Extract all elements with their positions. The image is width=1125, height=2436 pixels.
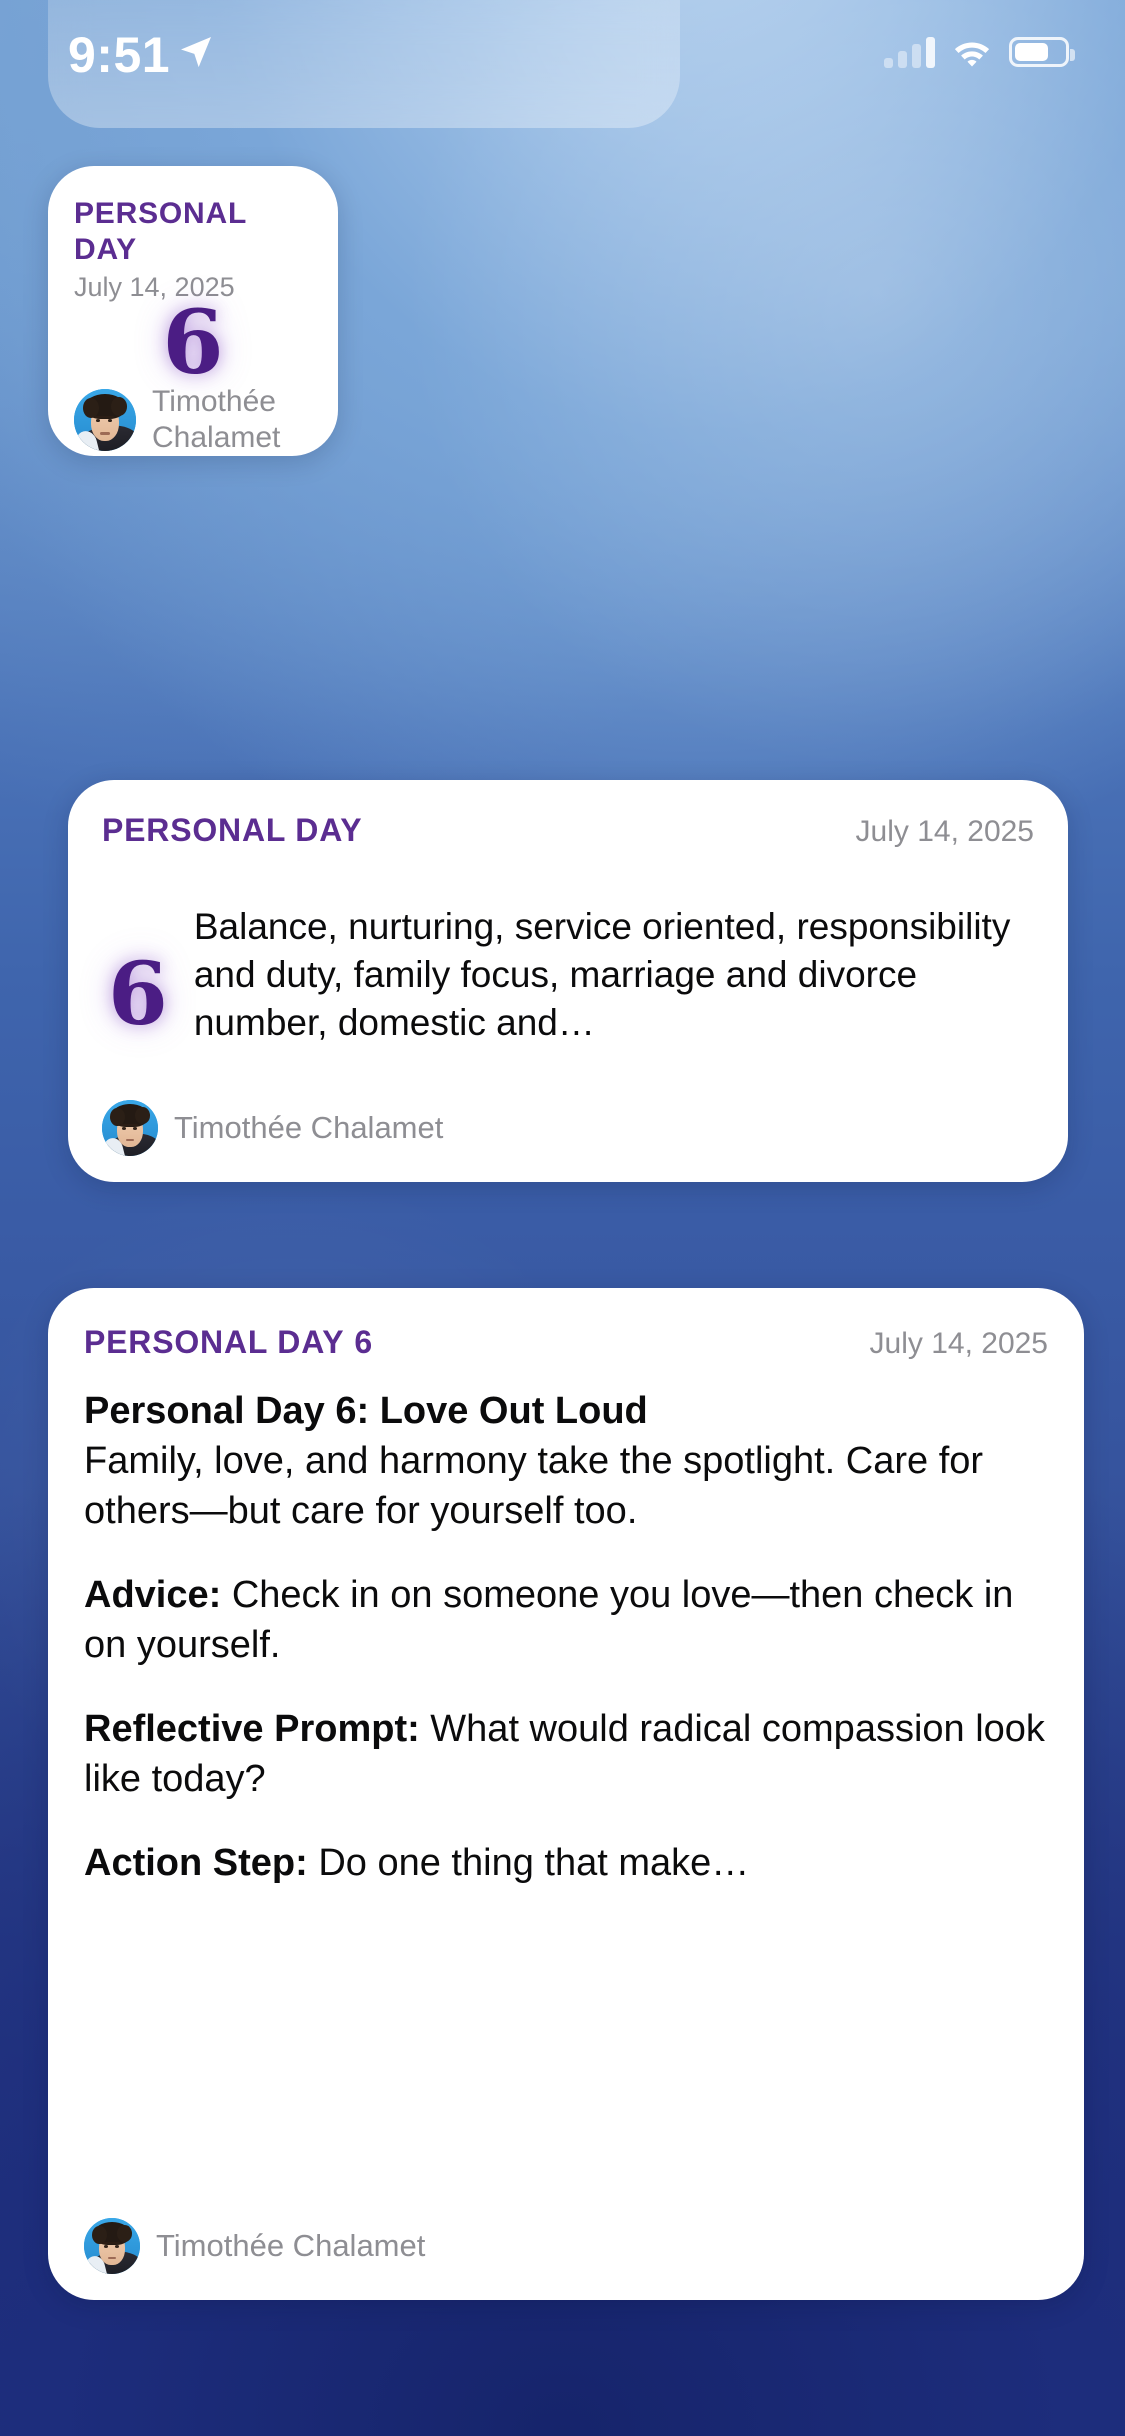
location-arrow-icon [176,32,216,72]
large-widget-kicker-label: PERSONAL DAY [84,1324,344,1360]
large-widget-footer: Timothée Chalamet [84,2218,1048,2274]
large-widget-advice-text: Check in on someone you love—then check … [84,1574,1013,1666]
medium-widget-author: Timothée Chalamet [174,1109,443,1147]
timothee-chalamet-avatar [74,389,136,451]
large-widget-kicker: PERSONAL DAY6 [84,1322,373,1362]
small-widget-footer: Timothée Chalamet [74,384,312,456]
large-widget-reflective: Reflective Prompt: What would radical co… [84,1704,1048,1804]
large-widget-advice-label: Advice: [84,1574,221,1616]
large-widget-action: Action Step: Do one thing that make… [84,1838,1048,1888]
large-widget-title-text: Personal Day 6: Love Out Loud [84,1390,648,1432]
large-widget-author: Timothée Chalamet [156,2227,425,2265]
widget-card-medium[interactable]: PERSONAL DAY July 14, 2025 6 Balance, nu… [68,780,1068,1182]
medium-widget-body: 6 Balance, nurturing, service oriented, … [102,852,1034,1098]
medium-widget-header: PERSONAL DAY July 14, 2025 [102,810,1034,852]
status-bar-time: 9:51 [68,25,170,85]
small-widget-number-wrap: 6 [74,304,312,386]
large-widget-action-text: Do one thing that make… [308,1842,749,1884]
small-widget-kicker: PERSONAL DAY [74,196,312,268]
medium-widget-number: 6 [108,952,168,1038]
small-widget-number: 6 [162,298,223,386]
medium-widget-date: July 14, 2025 [856,812,1034,852]
wifi-icon [951,36,993,68]
large-widget-header: PERSONAL DAY6 July 14, 2025 [84,1322,1048,1364]
medium-widget-footer: Timothée Chalamet [102,1100,1034,1156]
large-widget-intro: Family, love, and harmony take the spotl… [84,1436,1048,1536]
large-widget-reflective-label: Reflective Prompt: [84,1708,420,1750]
widget-gallery-scroll[interactable]: PERSONAL DAY July 14, 2025 6 Timothée Ch… [0,0,1125,2436]
large-widget-body: Personal Day 6: Love Out Loud Family, lo… [84,1364,1048,2214]
status-bar-indicators [884,36,1069,68]
large-widget-action-label: Action Step: [84,1842,308,1884]
widget-card-small[interactable]: PERSONAL DAY July 14, 2025 6 Timothée Ch… [48,166,338,456]
timothee-chalamet-avatar [84,2218,140,2274]
battery-icon [1009,37,1069,67]
timothee-chalamet-avatar [102,1100,158,1156]
large-widget-advice: Advice: Check in on someone you love—the… [84,1570,1048,1670]
status-bar: 9:51 [0,0,1125,132]
widget-card-large[interactable]: PERSONAL DAY6 July 14, 2025 Personal Day… [48,1288,1084,2300]
medium-widget-kicker: PERSONAL DAY [102,810,362,850]
large-widget-title: Personal Day 6: Love Out Loud [84,1386,1048,1436]
large-widget-date: July 14, 2025 [870,1324,1048,1364]
cellular-signal-icon [884,36,935,68]
medium-widget-description: Balance, nurturing, service oriented, re… [194,903,1034,1047]
small-widget-author: Timothée Chalamet [152,384,302,456]
large-widget-kicker-number: 6 [354,1324,373,1360]
